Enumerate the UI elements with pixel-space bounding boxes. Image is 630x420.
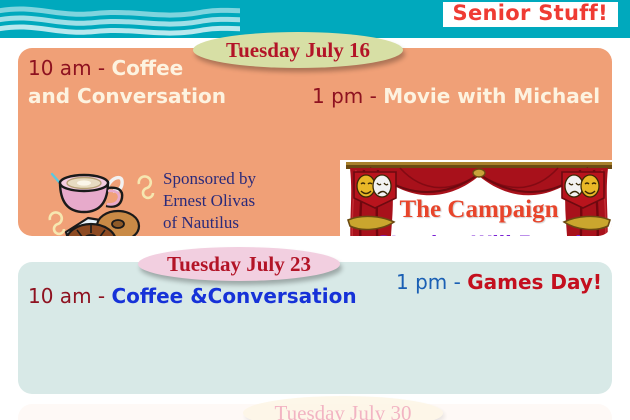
event-1-morning-line-2: and Conversation: [28, 85, 226, 108]
date-badge-july-30: Tuesday July 30: [243, 396, 443, 420]
event-2-afternoon-time: 1 pm -: [396, 270, 467, 294]
event-2-morning-name: Coffee &Conversation: [111, 284, 356, 308]
wave-lines-icon: [0, 0, 240, 38]
event-1-afternoon-name: Movie with Michael: [383, 84, 600, 108]
coffee-and-donuts-clipart: [44, 160, 160, 236]
event-1-afternoon-time: 1 pm -: [312, 84, 383, 108]
theater-curtains-masks-image: The Campaign Starring Will Ferrel: [340, 160, 612, 236]
page-title-text: Senior Stuff!: [453, 1, 608, 25]
page-title: Senior Stuff!: [443, 2, 618, 27]
date-badge-july-23-label: Tuesday July 23: [167, 252, 311, 277]
movie-title: The Campaign: [340, 196, 612, 224]
event-2-afternoon-heading: 1 pm - Games Day!: [396, 271, 602, 294]
event-2-afternoon-name: Games Day!: [467, 270, 602, 294]
movie-starring: Starring Will Ferrel: [340, 232, 612, 236]
date-badge-july-16-label: Tuesday July 16: [226, 38, 370, 63]
flyer-page: Senior Stuff!: [0, 0, 630, 420]
date-badge-july-16: Tuesday July 16: [193, 32, 403, 68]
date-badge-july-30-label: Tuesday July 30: [275, 401, 412, 420]
sponsor-text-july-16: Sponsored by Ernest Olivas of Nautilus H…: [163, 168, 290, 236]
event-1-morning-name-1: Coffee: [111, 56, 183, 80]
event-1-afternoon-heading: 1 pm - Movie with Michael: [312, 85, 600, 108]
event-2-morning-heading: 10 am - Coffee &Conversation: [28, 285, 357, 308]
event-1-morning-name-2: and Conversation: [28, 84, 226, 108]
event-1-morning-time: 10 am -: [28, 56, 111, 80]
event-2-morning-time: 10 am -: [28, 284, 111, 308]
date-badge-july-23: Tuesday July 23: [138, 247, 340, 281]
event-1-morning-line-1: 10 am - Coffee: [28, 57, 183, 80]
